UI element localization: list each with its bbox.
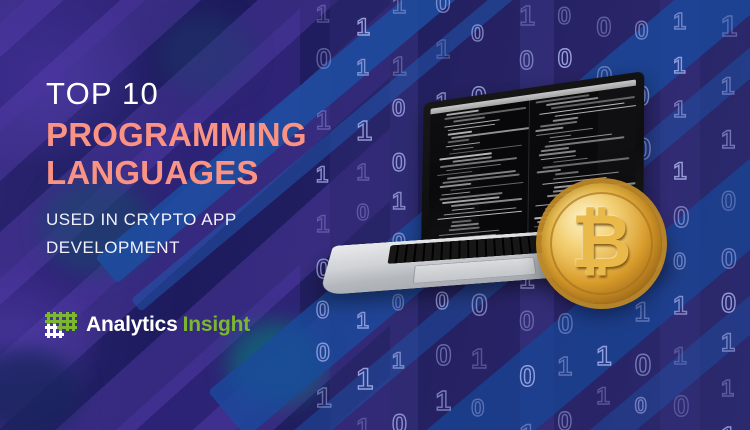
brand-logo-text: AnalyticsInsight: [86, 313, 250, 337]
code-line: [451, 220, 471, 223]
dot-grid-cell: [66, 326, 69, 329]
brand-logo[interactable]: AnalyticsInsight: [46, 312, 250, 338]
subheadline: USED IN CRYPTO APP DEVELOPMENT: [46, 206, 376, 261]
code-line: [450, 182, 523, 191]
bitcoin-symbol-icon: ₿: [571, 199, 631, 285]
brand-word-analytics: Analytics: [86, 313, 178, 336]
headline-line-2: LANGUAGES: [46, 154, 376, 192]
dot-grid-cell: [72, 320, 75, 323]
dot-grid-cell: [72, 326, 75, 329]
dot-grid-cell: [66, 320, 69, 323]
banner: 1011100011111011111100100100110000010010…: [0, 0, 750, 430]
headline-title: PROGRAMMING LANGUAGES: [46, 116, 376, 193]
dot-grid-cell: [59, 333, 62, 336]
dot-grid-cell: [53, 333, 56, 336]
code-line: [554, 184, 576, 188]
dot-grid-cell: [66, 314, 69, 317]
subheadline-line-1: USED IN CRYPTO APP: [46, 206, 376, 234]
headline-line-1: PROGRAMMING: [46, 116, 307, 153]
code-line: [437, 211, 521, 221]
dot-grid-icon: [46, 312, 76, 338]
dot-grid-cell: [53, 314, 56, 317]
code-line: [447, 139, 469, 143]
dot-grid-cell: [53, 320, 56, 323]
dot-grid-cell: [59, 320, 62, 323]
laptop-illustration: ₿: [333, 86, 693, 341]
headline-block: TOP 10 PROGRAMMING LANGUAGES USED IN CRY…: [46, 78, 376, 261]
code-line: [448, 227, 479, 231]
laptop-trackpad: [412, 257, 536, 284]
dot-grid-cell: [53, 326, 56, 329]
code-line: [451, 207, 474, 211]
dot-grid-cell: [59, 326, 62, 329]
dot-grid-cell: [47, 333, 50, 336]
code-line: [550, 134, 571, 138]
code-line: [540, 121, 577, 127]
dot-grid-cell: [72, 314, 75, 317]
dot-grid-cell: [59, 314, 62, 317]
code-line: [555, 171, 579, 175]
brand-word-insight: Insight: [183, 313, 250, 336]
dot-grid-cell: [47, 326, 50, 329]
kicker-text: TOP 10: [46, 78, 376, 111]
dot-grid-cell: [47, 320, 50, 323]
dot-grid-cell: [47, 314, 50, 317]
subheadline-line-2: DEVELOPMENT: [46, 234, 376, 262]
bitcoin-coin: ₿: [541, 183, 662, 304]
